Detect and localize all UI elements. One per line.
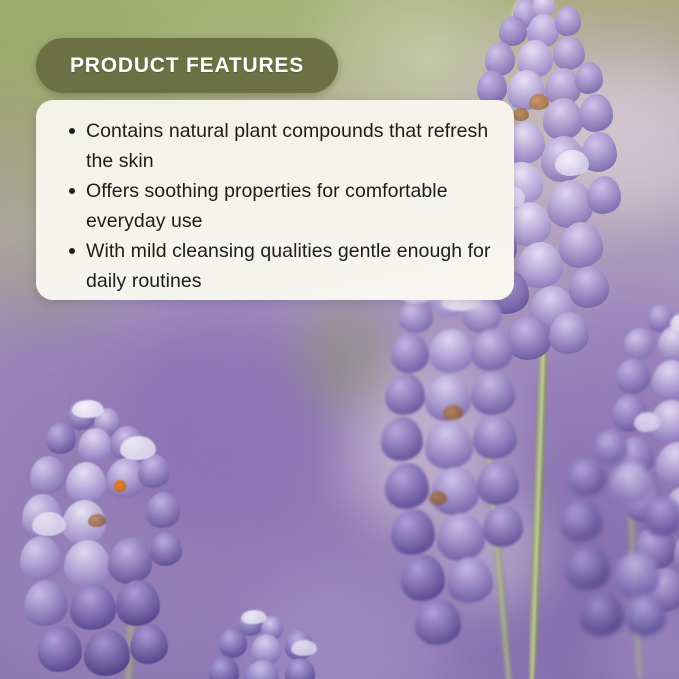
bullet-icon (69, 188, 75, 194)
lavender-spike-center (345, 285, 545, 679)
product-feature-graphic: PRODUCT FEATURES Contains natural plant … (0, 0, 679, 679)
bullet-icon (69, 248, 75, 254)
feature-list-item: Offers soothing properties for comfortab… (54, 176, 494, 236)
feature-text: With mild cleansing qualities gentle eno… (86, 240, 491, 292)
feature-list: Contains natural plant compounds that re… (54, 116, 494, 296)
feature-list-item: Contains natural plant compounds that re… (54, 116, 494, 176)
lavender-spike-far-right (540, 430, 679, 679)
lavender-spike-bottom-left (10, 400, 200, 679)
feature-card: Contains natural plant compounds that re… (36, 100, 514, 300)
bullet-icon (69, 128, 75, 134)
badge-label: PRODUCT FEATURES (70, 54, 304, 78)
product-features-badge: PRODUCT FEATURES (36, 38, 338, 93)
feature-list-item: With mild cleansing qualities gentle eno… (54, 236, 494, 296)
feature-text: Offers soothing properties for comfortab… (86, 180, 448, 232)
lavender-spike-bottom-center (195, 610, 345, 679)
feature-text: Contains natural plant compounds that re… (86, 120, 488, 172)
